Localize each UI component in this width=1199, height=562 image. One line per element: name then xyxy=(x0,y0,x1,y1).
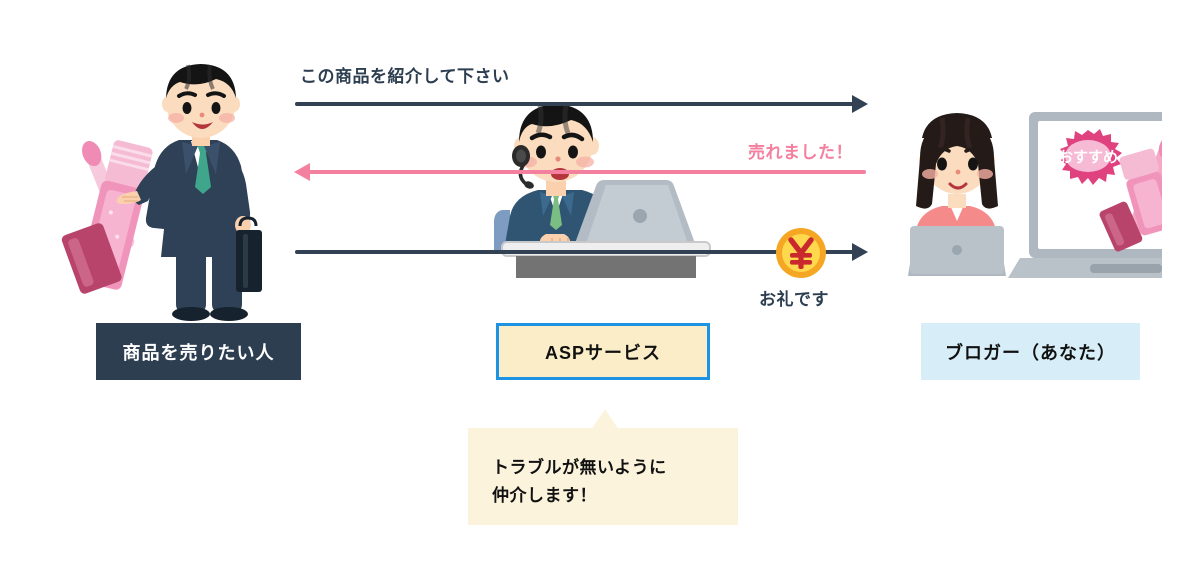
role-box-asp[interactable]: ASPサービス xyxy=(496,323,710,380)
role-label-asp: ASPサービス xyxy=(545,339,661,365)
arrow-head-reward xyxy=(852,243,868,261)
diagram-canvas: おすすめ xyxy=(0,0,1199,562)
yen-coin-icon xyxy=(775,227,827,279)
flow-label-reward: お礼です xyxy=(759,285,829,310)
recommend-badge-text: おすすめ xyxy=(1058,149,1118,166)
role-box-seller[interactable]: 商品を売りたい人 xyxy=(96,323,301,380)
arrow-line-sold xyxy=(308,170,866,174)
callout-text: トラブルが無いように 仲介します！ xyxy=(492,454,738,509)
woman-blogger-laptop-illustration: おすすめ xyxy=(900,100,1162,280)
businessman-presenting-cosmetic-illustration xyxy=(40,58,295,324)
arrow-line-request xyxy=(295,102,858,106)
role-label-blogger: ブロガー（あなた） xyxy=(945,339,1116,365)
arrow-line-reward xyxy=(295,250,858,254)
flow-label-sold: 売れました！ xyxy=(748,138,853,163)
call-center-operator-laptop-illustration xyxy=(480,82,730,278)
arrow-head-request xyxy=(852,95,868,113)
role-label-seller: 商品を売りたい人 xyxy=(123,339,275,365)
flow-label-request: この商品を紹介して下さい xyxy=(300,62,510,87)
role-box-blogger[interactable]: ブロガー（あなた） xyxy=(921,323,1140,380)
callout-tail xyxy=(591,409,619,430)
arrow-head-sold xyxy=(294,163,310,181)
callout-box: トラブルが無いように 仲介します！ xyxy=(468,428,738,525)
